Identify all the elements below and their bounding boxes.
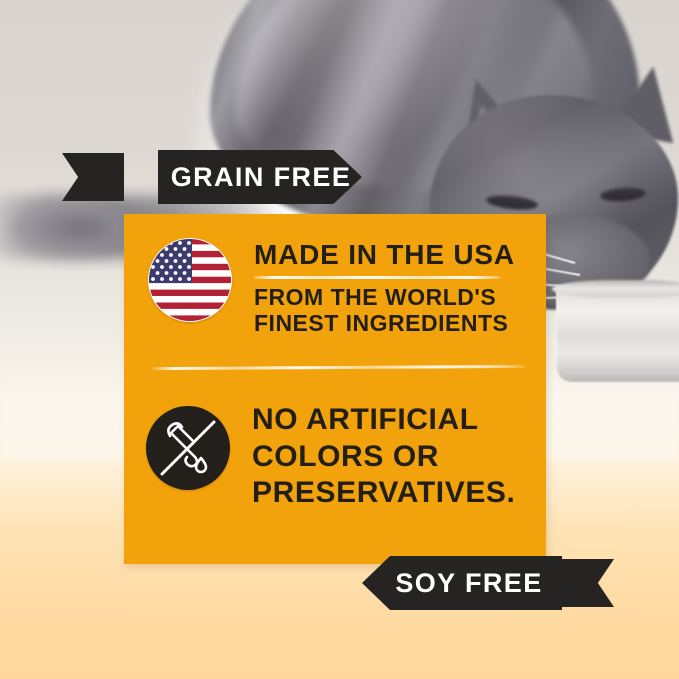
claim-headline: MADE IN THE USA (254, 240, 515, 269)
no-dropper-icon (146, 406, 230, 490)
claim-made-in-usa: MADE IN THE USA FROM THE WORLD'S FINEST … (148, 238, 528, 337)
claims-card: MADE IN THE USA FROM THE WORLD'S FINEST … (124, 214, 546, 564)
brush-divider-main (152, 365, 524, 370)
usa-flag-icon (148, 238, 232, 322)
food-bowl (556, 286, 679, 382)
ribbon-tail-left (62, 153, 124, 201)
cat-tail-tip (10, 200, 130, 256)
ribbon-soy-free-label: SOY FREE (395, 568, 542, 599)
brush-divider-small (254, 276, 500, 279)
ribbon-grain-free-plate: GRAIN FREE (158, 150, 362, 204)
claim-subline-1: FROM THE WORLD'S (254, 285, 515, 311)
claim-no-artificial: NO ARTIFICIAL COLORS OR PRESERVATIVES. (146, 400, 530, 512)
ribbon-grain-free: GRAIN FREE (62, 150, 362, 204)
ribbon-grain-free-label: GRAIN FREE (171, 162, 352, 193)
ribbon-soy-free-plate: SOY FREE (362, 556, 562, 610)
claim-subline-2: FINEST INGREDIENTS (254, 311, 515, 337)
claim-no-artificial-text: NO ARTIFICIAL COLORS OR PRESERVATIVES. (252, 400, 515, 512)
product-claim-image: GRAIN FREE (0, 0, 679, 679)
claim-line-2: COLORS OR (252, 439, 515, 476)
claim-line-1: NO ARTIFICIAL (252, 402, 515, 439)
food-bowl-rim (552, 280, 679, 298)
claim-line-3: PRESERVATIVES. (252, 475, 515, 512)
ribbon-soy-free: SOY FREE (352, 556, 632, 610)
ribbon-tail-right (552, 559, 614, 607)
claim-made-in-usa-text: MADE IN THE USA FROM THE WORLD'S FINEST … (254, 238, 515, 337)
